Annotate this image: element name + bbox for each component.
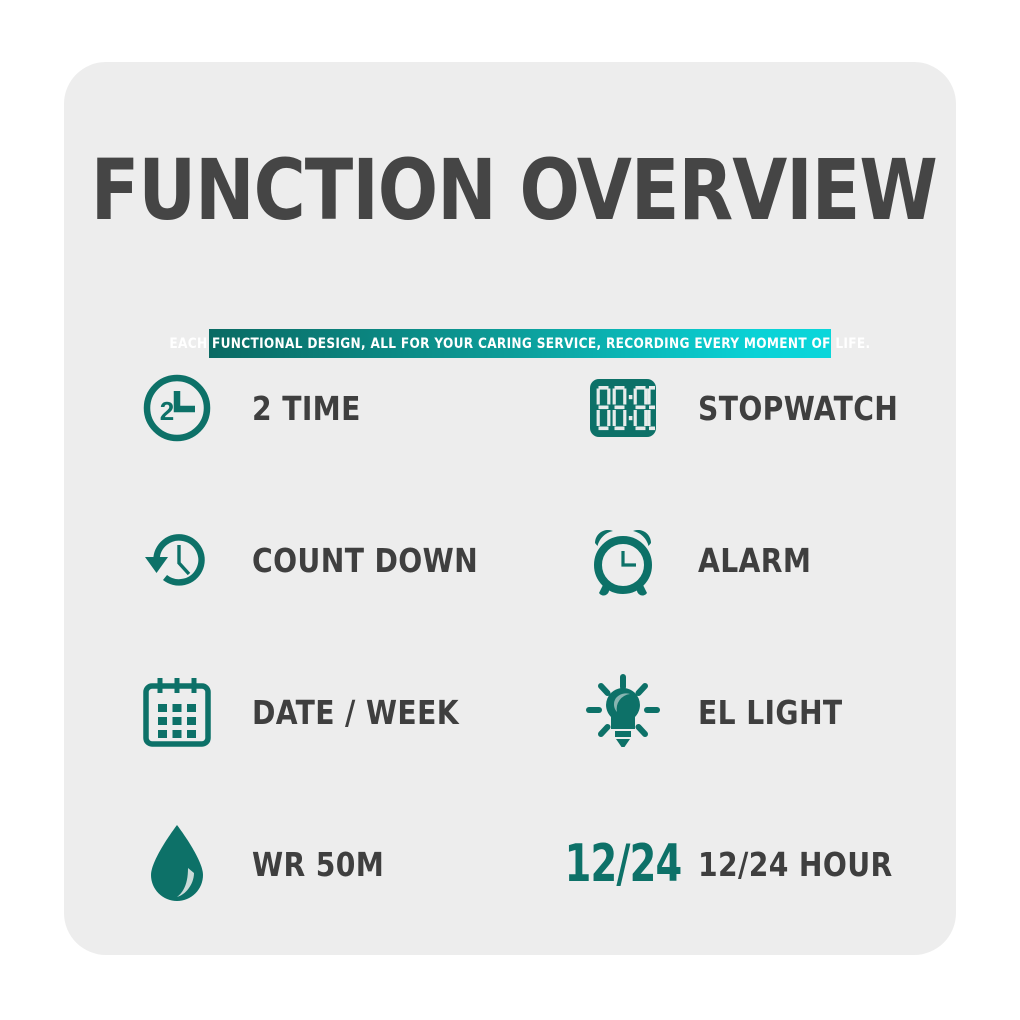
- alarm-clock-icon: [584, 521, 662, 599]
- feature-grid: 2 2 TIME: [64, 332, 956, 940]
- feature-label: ALARM: [698, 541, 811, 580]
- feature-label: 12/24 HOUR: [698, 845, 893, 884]
- feature-item-count-down[interactable]: COUNT DOWN: [64, 484, 510, 636]
- screenshot-root: FUNCTION OVERVIEW EACH FUNCTIONAL DESIGN…: [0, 0, 1020, 1020]
- feature-label: STOPWATCH: [698, 389, 898, 428]
- svg-text:2: 2: [160, 396, 174, 426]
- feature-label: COUNT DOWN: [252, 541, 478, 580]
- feature-item-12-24-hour[interactable]: 12/24 12/24 HOUR: [510, 788, 956, 940]
- feature-label: 2 TIME: [252, 389, 361, 428]
- feature-item-date-week[interactable]: DATE / WEEK: [64, 636, 510, 788]
- page-title: FUNCTION OVERVIEW: [91, 147, 929, 233]
- calendar-icon: [138, 673, 216, 751]
- feature-item-2-time[interactable]: 2 2 TIME: [64, 332, 510, 484]
- header: FUNCTION OVERVIEW EACH FUNCTIONAL DESIGN…: [64, 147, 956, 233]
- function-overview-card: FUNCTION OVERVIEW EACH FUNCTIONAL DESIGN…: [64, 62, 956, 955]
- feature-item-alarm[interactable]: ALARM: [510, 484, 956, 636]
- feature-item-stopwatch[interactable]: STOPWATCH: [510, 332, 956, 484]
- light-bulb-icon: [584, 673, 662, 751]
- stopwatch-digital-icon: [584, 369, 662, 447]
- water-drop-icon: [138, 825, 216, 903]
- feature-label: WR 50M: [252, 845, 384, 884]
- count-down-clock-icon: [138, 521, 216, 599]
- two-time-clock-icon: 2: [138, 369, 216, 447]
- feature-label: DATE / WEEK: [252, 693, 459, 732]
- feature-item-el-light[interactable]: EL LIGHT: [510, 636, 956, 788]
- twelve-twenty-four-icon: 12/24: [591, 825, 655, 903]
- feature-item-wr-50m[interactable]: WR 50M: [64, 788, 510, 940]
- feature-label: EL LIGHT: [698, 693, 843, 732]
